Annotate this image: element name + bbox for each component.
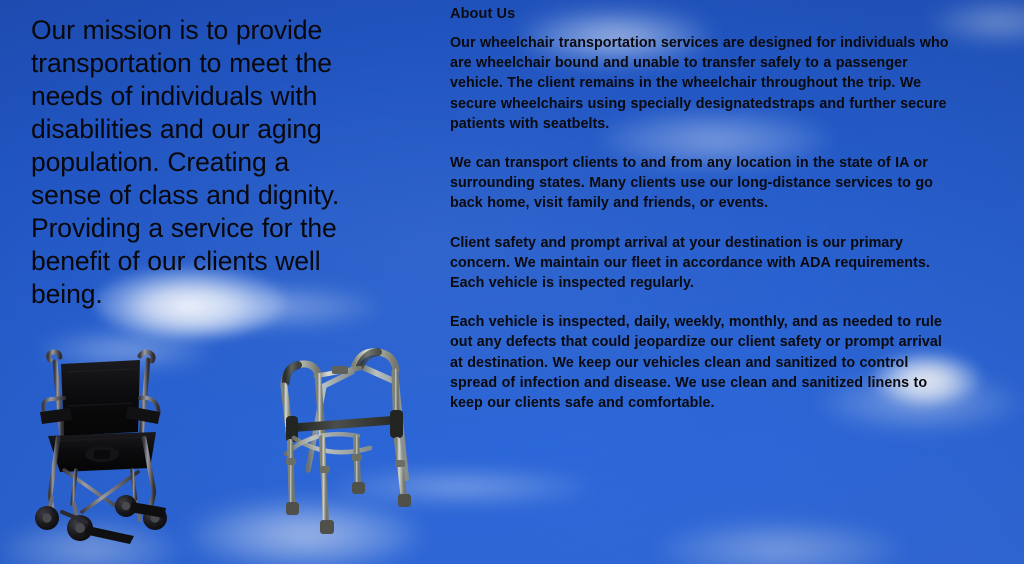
walker-icon bbox=[264, 338, 422, 538]
about-paragraph-4: Each vehicle is inspected, daily, weekly… bbox=[450, 312, 950, 413]
wheelchair-image bbox=[28, 346, 180, 546]
about-us-heading: About Us bbox=[450, 5, 950, 24]
about-paragraph-2: We can transport clients to and from any… bbox=[450, 153, 950, 214]
mission-statement-text: Our mission is to provide transportation… bbox=[31, 14, 367, 311]
walker-image bbox=[264, 338, 422, 538]
about-paragraph-1: Our wheelchair transportation services a… bbox=[450, 33, 950, 134]
wheelchair-icon bbox=[28, 346, 180, 546]
about-us-block: About Us Our wheelchair transportation s… bbox=[450, 5, 950, 413]
about-paragraph-3: Client safety and prompt arrival at your… bbox=[450, 233, 950, 294]
about-us-page: Our mission is to provide transportation… bbox=[0, 0, 1024, 564]
cloud-bottom-right bbox=[660, 520, 900, 564]
mission-statement-block: Our mission is to provide transportation… bbox=[31, 14, 367, 311]
